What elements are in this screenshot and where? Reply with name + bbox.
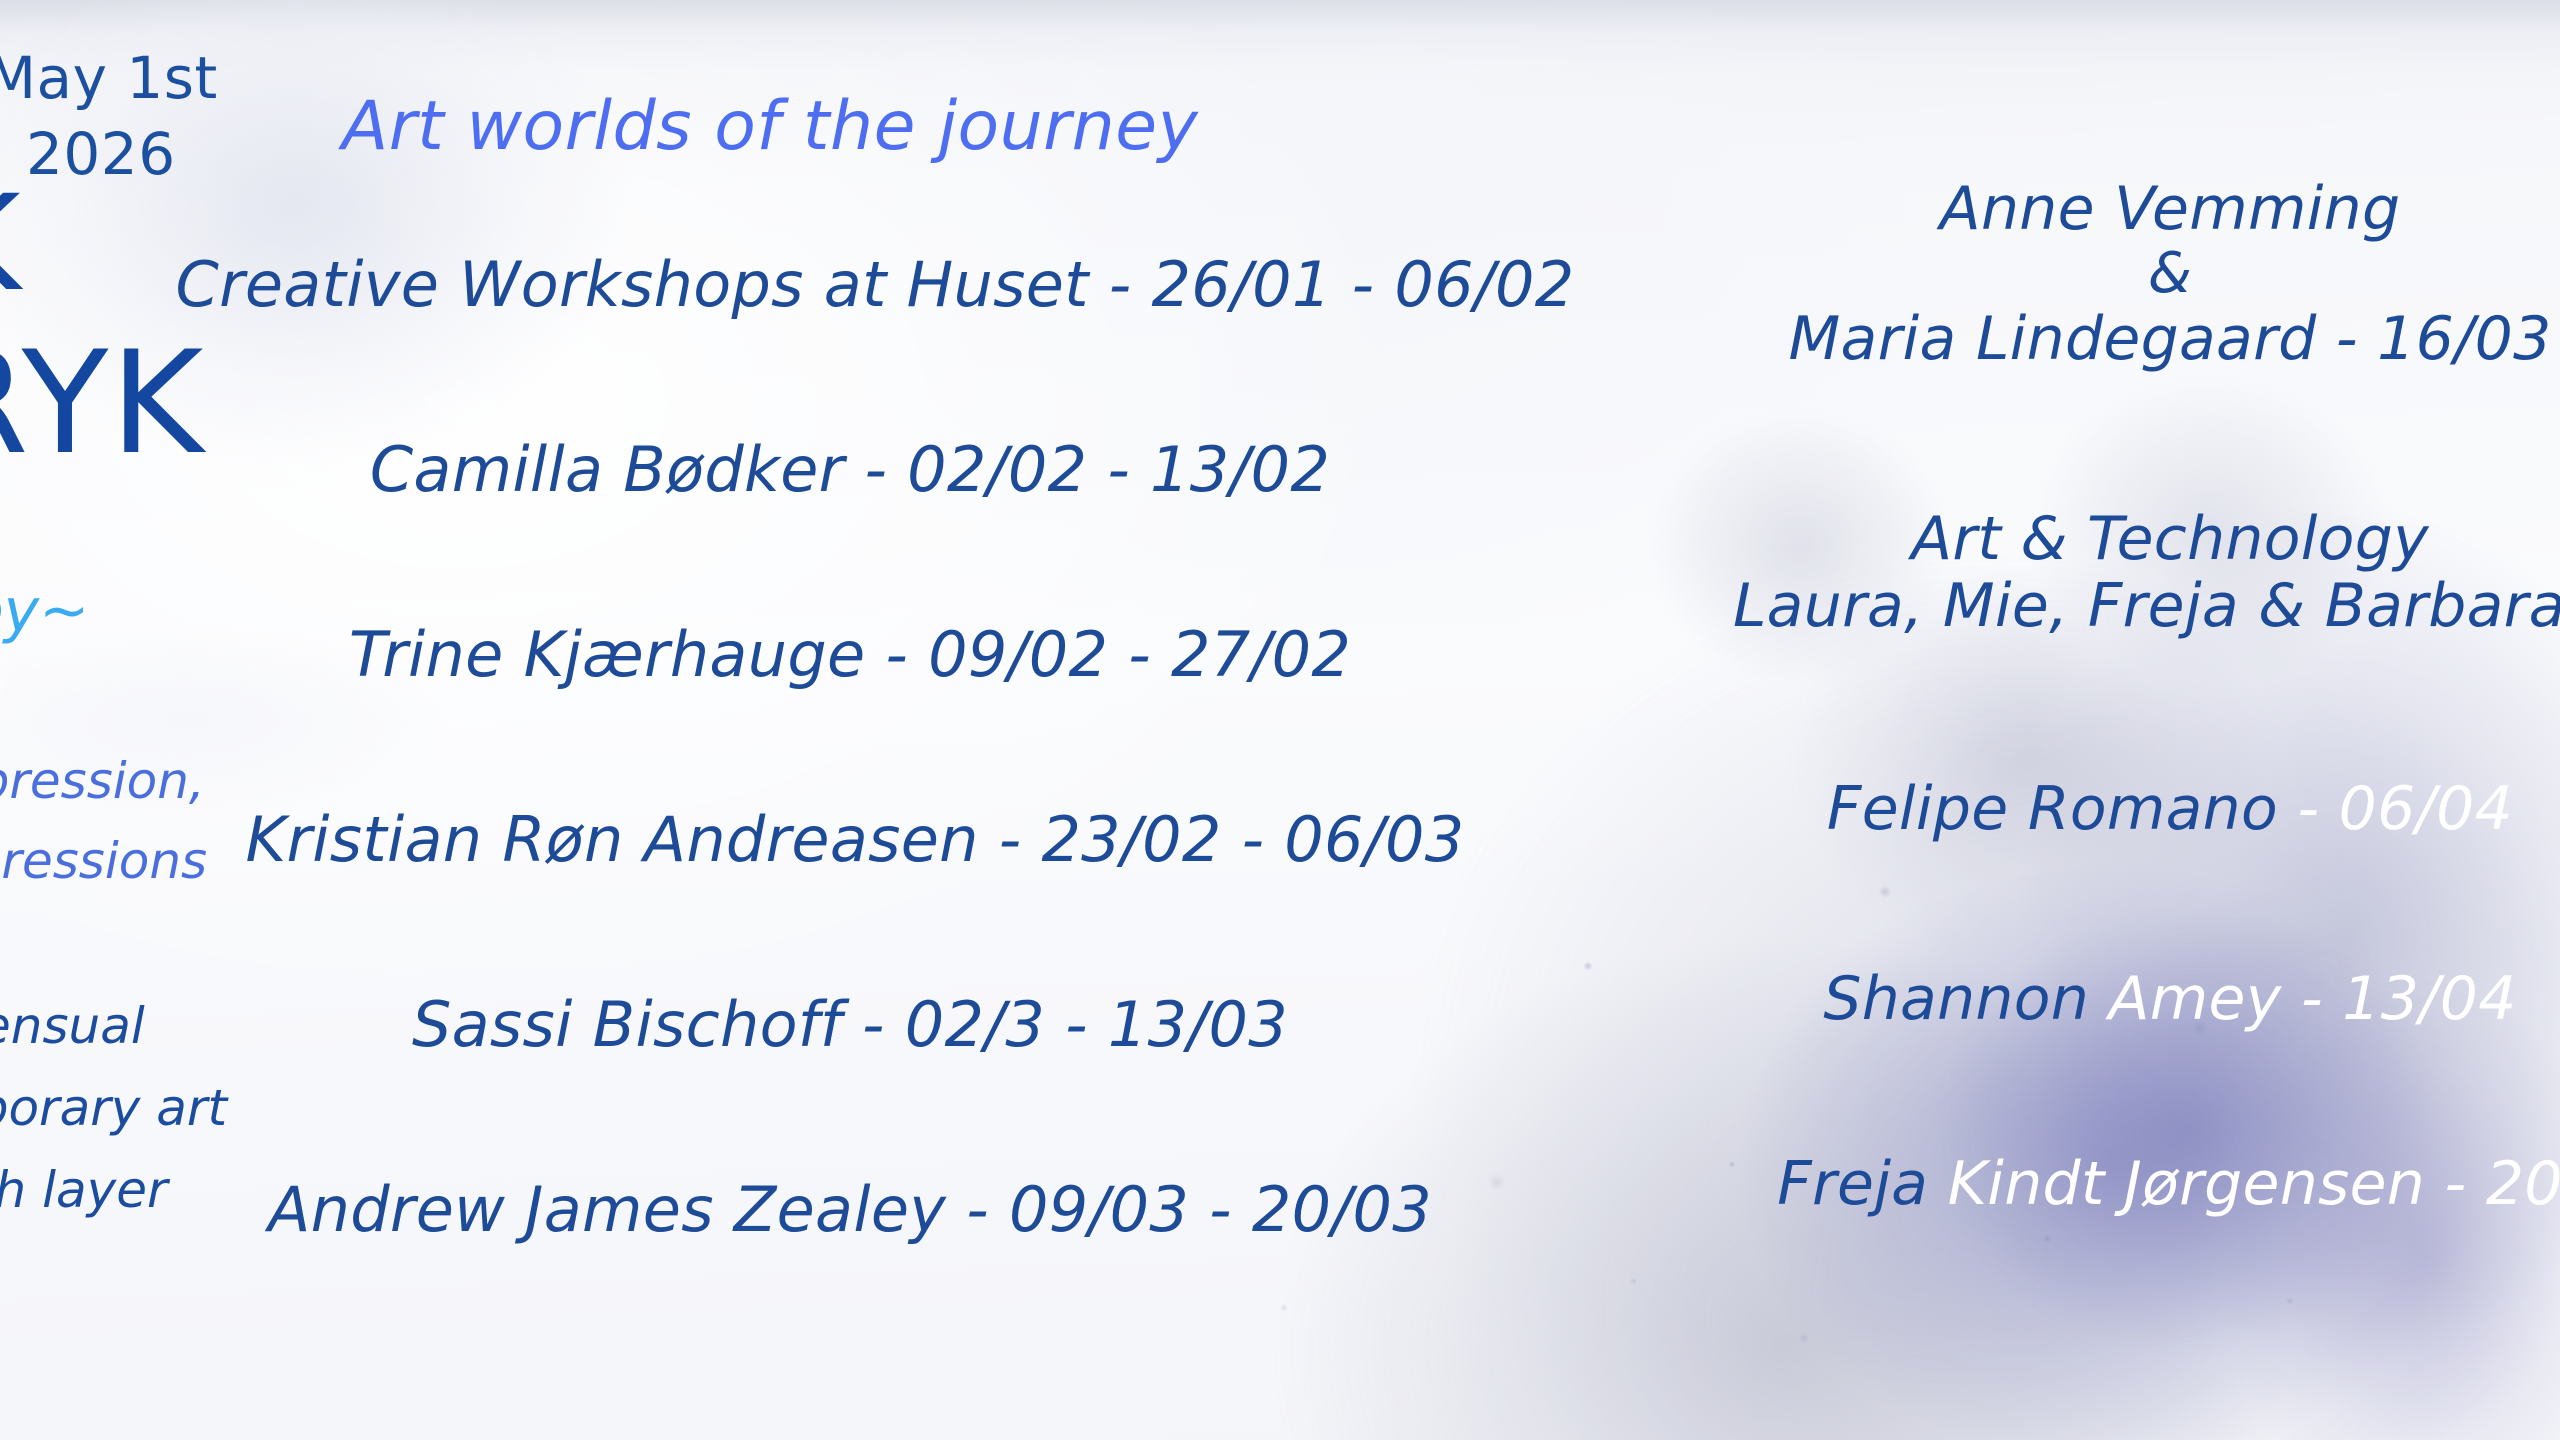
schedule-row: Creative Workshops at Huset - 26/01 - 06… bbox=[0, 248, 1700, 433]
group-title-line: Art & Technology bbox=[1640, 506, 2560, 573]
artist-date-white: - 06/04 bbox=[2278, 774, 2513, 844]
schedule-entry-text: Andrew James Zealey - 09/03 - 20/03 bbox=[268, 1173, 1432, 1246]
artist-date-white: Amey - 13/04 bbox=[2089, 964, 2517, 1034]
right-column: Anne Vemming & Maria Lindegaard - 16/03 … bbox=[1640, 176, 2560, 1376]
schedule-row-right: Art & Technology Laura, Mie, Freja & Bar… bbox=[1640, 506, 2560, 640]
schedule-row: Sassi Bischoff - 02/3 - 13/03 bbox=[0, 988, 1700, 1173]
schedule-row: Kristian Røn Andreasen - 23/02 - 06/03 bbox=[0, 803, 1700, 988]
schedule-entry-text: Camilla Bødker - 02/02 - 13/02 bbox=[370, 433, 1330, 506]
artist-name-blue: Felipe Romano bbox=[1827, 774, 2278, 844]
schedule-row: Camilla Bødker - 02/02 - 13/02 bbox=[0, 433, 1700, 618]
top-edge-shadow bbox=[0, 0, 2560, 70]
artist-name-blue: Shannon bbox=[1823, 964, 2089, 1034]
schedule-row-right: Freja Kindt Jørgensen - 20 bbox=[1640, 1151, 2560, 1218]
schedule-entry-text: Trine Kjærhauge - 09/02 - 27/02 bbox=[349, 618, 1351, 691]
ampersand-separator: & bbox=[1640, 243, 2560, 306]
artist-name-line: Anne Vemming bbox=[1640, 176, 2560, 243]
artist-name-date-line: Felipe Romano - 06/04 bbox=[1640, 776, 2560, 843]
page-title: Art worlds of the journey bbox=[0, 92, 1540, 163]
schedule-row-right: Shannon Amey - 13/04 bbox=[1640, 966, 2560, 1033]
artist-name-date-line: Freja Kindt Jørgensen - 20 bbox=[1640, 1151, 2560, 1218]
schedule-row: Andrew James Zealey - 09/03 - 20/03 bbox=[0, 1173, 1700, 1358]
artist-name-blue: Freja bbox=[1777, 1149, 1928, 1219]
artist-name-date-line: Shannon Amey - 13/04 bbox=[1640, 966, 2560, 1033]
schedule-row-right: Anne Vemming & Maria Lindegaard - 16/03 bbox=[1640, 176, 2560, 373]
group-members-line: Laura, Mie, Freja & Barbara - bbox=[1640, 573, 2560, 640]
schedule-row-right: Felipe Romano - 06/04 bbox=[1640, 776, 2560, 843]
artist-date-white: Kindt Jørgensen - 20 bbox=[1928, 1149, 2560, 1219]
schedule-entry-text: Kristian Røn Andreasen - 23/02 - 06/03 bbox=[246, 803, 1465, 876]
schedule-entry-text: Creative Workshops at Huset - 26/01 - 06… bbox=[175, 248, 1574, 321]
schedule-row: Trine Kjærhauge - 09/02 - 27/02 bbox=[0, 618, 1700, 803]
schedule-list: Creative Workshops at Huset - 26/01 - 06… bbox=[0, 248, 1700, 1358]
schedule-entry-text: Sassi Bischoff - 02/3 - 13/03 bbox=[412, 988, 1288, 1061]
exhibition-poster: May 1st 2026 K RYK rney~ xpression, npre… bbox=[0, 0, 2560, 1440]
artist-name-date-line: Maria Lindegaard - 16/03 bbox=[1640, 306, 2560, 373]
